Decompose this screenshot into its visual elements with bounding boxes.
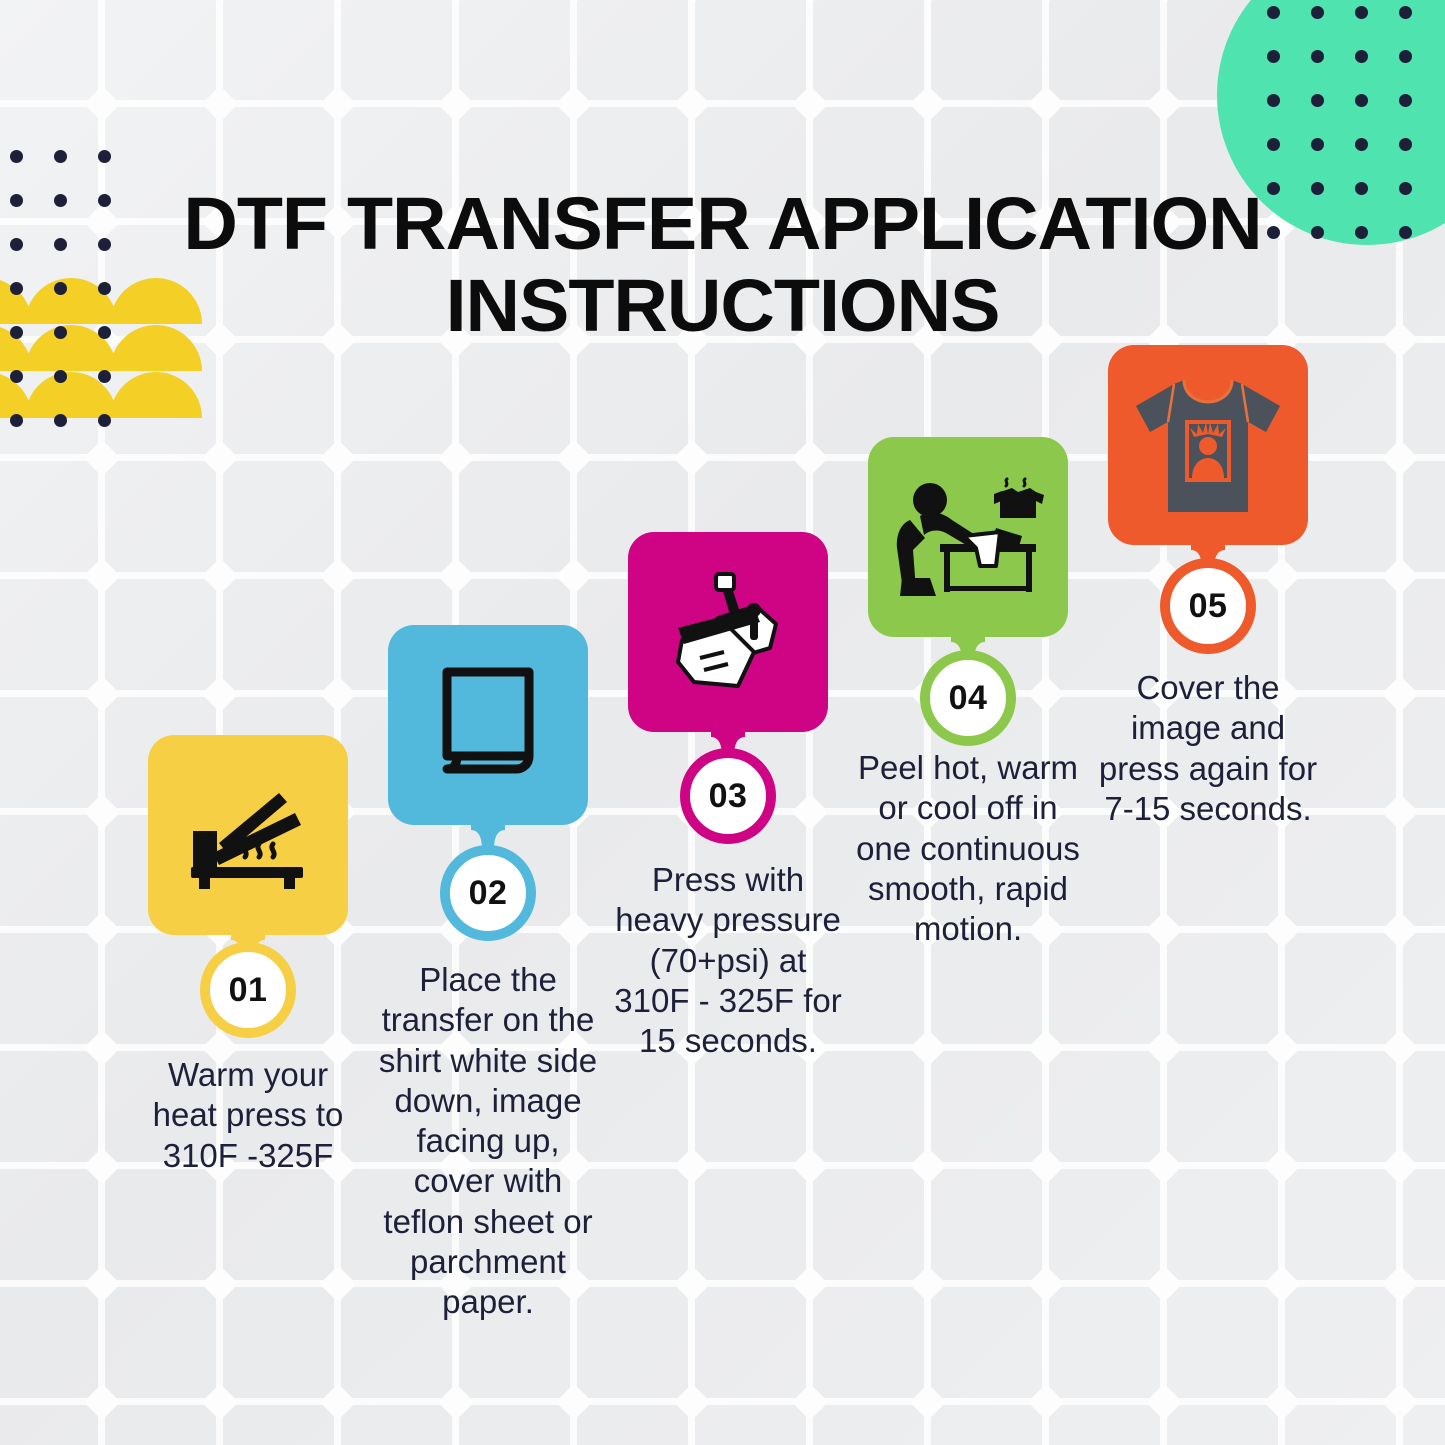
step-03-card [628,532,828,732]
step-05-caption: Cover the image and press again for 7-15… [1088,668,1328,829]
step-05-number-badge: 05 [1160,558,1256,654]
page-title-line-2: INSTRUCTIONS [446,264,1000,347]
step-04-card [868,437,1068,637]
heat-press-open-icon [183,777,313,893]
step-01: 01Warm your heat press to 310F -325F [128,735,368,935]
page-title: DTF TRANSFER APPLICATION INSTRUCTIONS [0,183,1445,349]
heat-press-machine-icon [658,566,798,698]
step-02-number-badge: 02 [440,845,536,941]
step-04-number-label: 04 [949,679,988,718]
step-03-caption: Press with heavy pressure (70+psi) at 31… [608,860,848,1061]
step-04: 04Peel hot, warm or cool off in one cont… [848,437,1088,637]
step-01-number-badge: 01 [200,942,296,1038]
step-03: 03Press with heavy pressure (70+psi) at … [608,532,848,732]
step-01-caption: Warm your heat press to 310F -325F [128,1055,368,1176]
peeling-transfer-icon [892,474,1044,600]
step-05-card [1108,345,1308,545]
transfer-sheet-icon [429,664,547,786]
step-01-number-label: 01 [229,971,268,1010]
step-05-number-label: 05 [1189,587,1228,626]
step-02-number-label: 02 [469,874,508,913]
step-02-card [388,625,588,825]
step-03-number-label: 03 [709,777,748,816]
step-05: 05Cover the image and press again for 7-… [1088,345,1328,545]
step-03-number-badge: 03 [680,748,776,844]
printed-tshirt-icon [1128,372,1288,518]
step-04-number-badge: 04 [920,650,1016,746]
step-02: 02Place the transfer on the shirt white … [368,625,608,825]
page-title-line-1: DTF TRANSFER APPLICATION [183,182,1261,265]
step-04-caption: Peel hot, warm or cool off in one contin… [848,748,1088,949]
step-02-caption: Place the transfer on the shirt white si… [368,960,608,1322]
step-01-card [148,735,348,935]
